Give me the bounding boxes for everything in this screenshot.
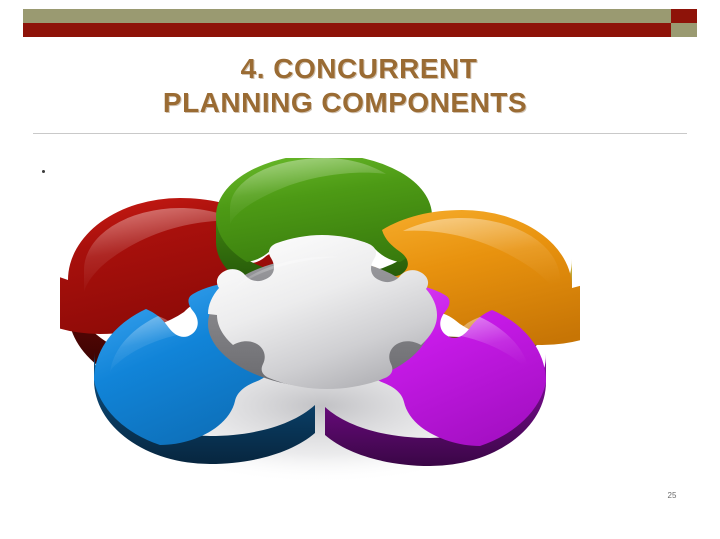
page-title: 4. CONCURRENT PLANNING COMPONENTS [0,52,690,120]
banner-maroon-strip [23,23,671,37]
banner-row-bottom [23,23,697,37]
page-title-line-2: PLANNING COMPONENTS [0,86,690,120]
slide-canvas: 4. CONCURRENT PLANNING COMPONENTS [0,0,720,539]
decorative-top-banner [23,9,697,37]
title-divider [33,133,687,134]
banner-olive-square [671,23,697,37]
page-number: 25 [660,491,684,500]
page-title-line-1: 4. CONCURRENT [0,52,690,86]
banner-olive-strip [23,9,671,23]
jigsaw-svg [60,158,580,488]
bullet-marker-icon [42,170,45,173]
banner-row-top [23,9,697,23]
banner-maroon-square [671,9,697,23]
jigsaw-flower-diagram [60,158,580,488]
